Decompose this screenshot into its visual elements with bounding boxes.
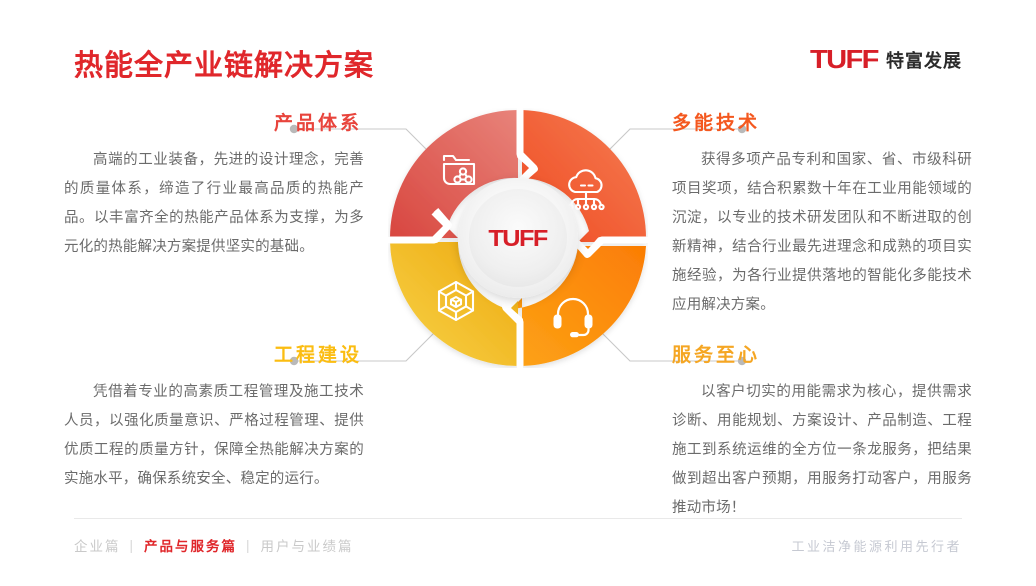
block-body: 高端的工业装备，先进的设计理念，完善的质量体系，缔造了行业最高品质的热能产品。以… bbox=[64, 146, 364, 262]
block-heading: 服务至心 bbox=[672, 346, 972, 365]
headset-icon bbox=[548, 290, 598, 345]
block-engineering-construction: 工程建设 凭借着专业的高素质工程管理及施工技术人员，以强化质量意识、严格过程管理… bbox=[64, 346, 364, 494]
donut-diagram: TUFF bbox=[388, 108, 648, 368]
block-body: 以客户切实的用能需求为核心，提供需求诊断、用能规划、方案设计、产品制造、工程施工… bbox=[672, 378, 972, 523]
footer-separator: | bbox=[246, 538, 252, 553]
block-body: 凭借着专业的高素质工程管理及施工技术人员，以强化质量意识、严格过程管理、提供优质… bbox=[64, 378, 364, 494]
footer-tab-enterprise[interactable]: 企业篇 bbox=[74, 535, 121, 555]
block-body: 获得多项产品专利和国家、省、市级科研项目奖项，结合积累数十年在工业用能领域的沉淀… bbox=[672, 146, 972, 320]
brand-logo: TUFF 特富发展 bbox=[810, 44, 962, 75]
footer-separator: | bbox=[130, 538, 136, 553]
block-heading: 产品体系 bbox=[64, 114, 364, 133]
slide-header: 热能全产业链解决方案 TUFF 特富发展 bbox=[0, 0, 1036, 100]
hub-wordmark: TUFF bbox=[489, 225, 547, 252]
footer-tab-products-services[interactable]: 产品与服务篇 bbox=[144, 535, 237, 555]
page-title: 热能全产业链解决方案 bbox=[74, 42, 374, 84]
block-multi-energy-technology: 多能技术 获得多项产品专利和国家、省、市级科研项目奖项，结合积累数十年在工业用能… bbox=[672, 114, 972, 320]
slide-canvas: 热能全产业链解决方案 TUFF 特富发展 产品体系 高端的工业装备，先进的设计理… bbox=[0, 0, 1036, 586]
footer-tabs: 企业篇 | 产品与服务篇 | 用户与业绩篇 bbox=[74, 535, 354, 555]
block-service-first: 服务至心 以客户切实的用能需求为核心，提供需求诊断、用能规划、方案设计、产品制造… bbox=[672, 346, 972, 523]
cube-icon bbox=[433, 278, 479, 329]
brand-wordmark: TUFF bbox=[810, 44, 878, 75]
footer-tab-customers-performance[interactable]: 用户与业绩篇 bbox=[261, 535, 354, 555]
block-product-system: 产品体系 高端的工业装备，先进的设计理念，完善的质量体系，缔造了行业最高品质的热… bbox=[64, 114, 364, 262]
block-heading: 工程建设 bbox=[64, 346, 364, 365]
footer-divider bbox=[74, 518, 962, 519]
block-heading: 多能技术 bbox=[672, 114, 972, 133]
footer-slogan: 工业洁净能源利用先行者 bbox=[791, 536, 962, 555]
brand-name: 特富发展 bbox=[886, 47, 962, 73]
donut-center-hub: TUFF bbox=[458, 178, 578, 298]
